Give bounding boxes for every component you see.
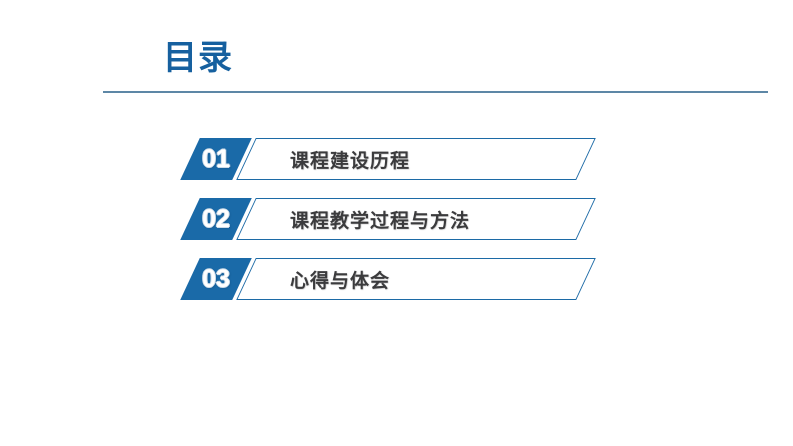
toc-item-label: 课程教学过程与方法: [290, 198, 470, 240]
toc-item-label: 课程建设历程: [290, 138, 410, 180]
toc-item-label: 心得与体会: [290, 258, 390, 300]
toc-item-01[interactable]: 01 课程建设历程: [186, 138, 606, 180]
toc-item-03[interactable]: 03 心得与体会: [186, 258, 606, 300]
slide-canvas: 目录 01 课程建设历程 02 课程教学过程与方法 03 心得与体会: [0, 0, 793, 446]
toc-item-02[interactable]: 02 课程教学过程与方法: [186, 198, 606, 240]
toc-list: 01 课程建设历程 02 课程教学过程与方法 03 心得与体会: [0, 0, 793, 446]
